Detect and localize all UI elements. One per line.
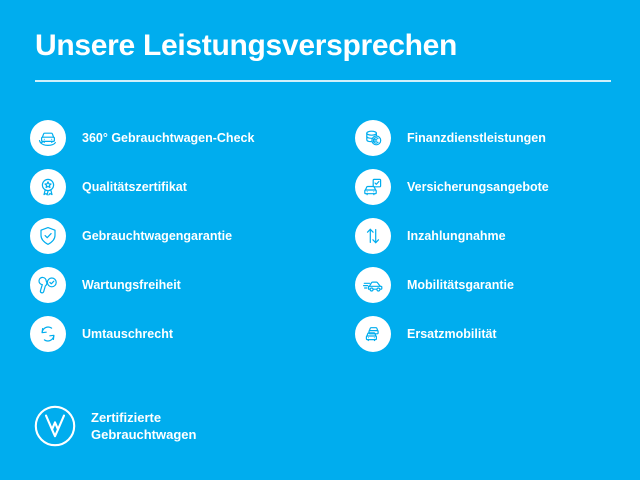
exchange-arrows-icon <box>30 316 66 352</box>
car-motion-icon <box>355 267 391 303</box>
benefit-label: Finanzdienstleistungen <box>407 130 546 146</box>
promo-banner: Unsere Leistungsversprechen 360° Gebrauc… <box>0 0 640 480</box>
car-document-check-icon <box>355 169 391 205</box>
benefit-label: Wartungsfreiheit <box>82 277 181 293</box>
car-360-check-icon <box>30 120 66 156</box>
benefit-label: Versicherungsangebote <box>407 179 549 195</box>
benefit-item-exchange-right: Umtauschrecht <box>30 316 320 352</box>
benefit-item-maintenance-free: Wartungsfreiheit <box>30 267 320 303</box>
benefit-label: Gebrauchtwagengarantie <box>82 228 232 244</box>
benefit-item-replacement-mobility: Ersatzmobilität <box>355 316 640 352</box>
benefit-label: Ersatzmobilität <box>407 326 497 342</box>
brand-text-line1: Zertifizierte <box>91 409 196 426</box>
title-divider <box>35 80 611 82</box>
benefit-item-quality-certificate: Qualitätszertifikat <box>30 169 320 205</box>
benefit-item-warranty: Gebrauchtwagengarantie <box>30 218 320 254</box>
arrows-up-down-icon <box>355 218 391 254</box>
brand-text: Zertifizierte Gebrauchtwagen <box>91 409 196 443</box>
coins-euro-icon <box>355 120 391 156</box>
brand-text-line2: Gebrauchtwagen <box>91 426 196 443</box>
quality-seal-icon <box>30 169 66 205</box>
benefit-label: Mobilitätsgarantie <box>407 277 514 293</box>
header: Unsere Leistungsversprechen <box>35 28 611 64</box>
benefit-label: Inzahlungnahme <box>407 228 506 244</box>
benefit-item-trade-in: Inzahlungnahme <box>355 218 640 254</box>
shield-check-icon <box>30 218 66 254</box>
wrench-check-icon <box>30 267 66 303</box>
benefit-label: 360° Gebrauchtwagen-Check <box>82 130 254 146</box>
two-cars-icon <box>355 316 391 352</box>
benefit-label: Qualitätszertifikat <box>82 179 187 195</box>
benefit-item-mobility-guarantee: Mobilitätsgarantie <box>355 267 640 303</box>
benefit-item-360-check: 360° Gebrauchtwagen-Check <box>30 120 320 156</box>
benefit-label: Umtauschrecht <box>82 326 173 342</box>
brand-lockup: Zertifizierte Gebrauchtwagen <box>32 403 196 449</box>
page-title: Unsere Leistungsversprechen <box>35 28 611 64</box>
benefit-item-financial-services: Finanzdienstleistungen <box>355 120 640 156</box>
benefit-item-insurance-offers: Versicherungsangebote <box>355 169 640 205</box>
volkswagen-logo-icon <box>32 403 78 449</box>
benefits-column-right: Finanzdienstleistungen Versicherungsange… <box>355 120 640 365</box>
benefits-column-left: 360° Gebrauchtwagen-Check Qualitätszerti… <box>30 120 320 365</box>
